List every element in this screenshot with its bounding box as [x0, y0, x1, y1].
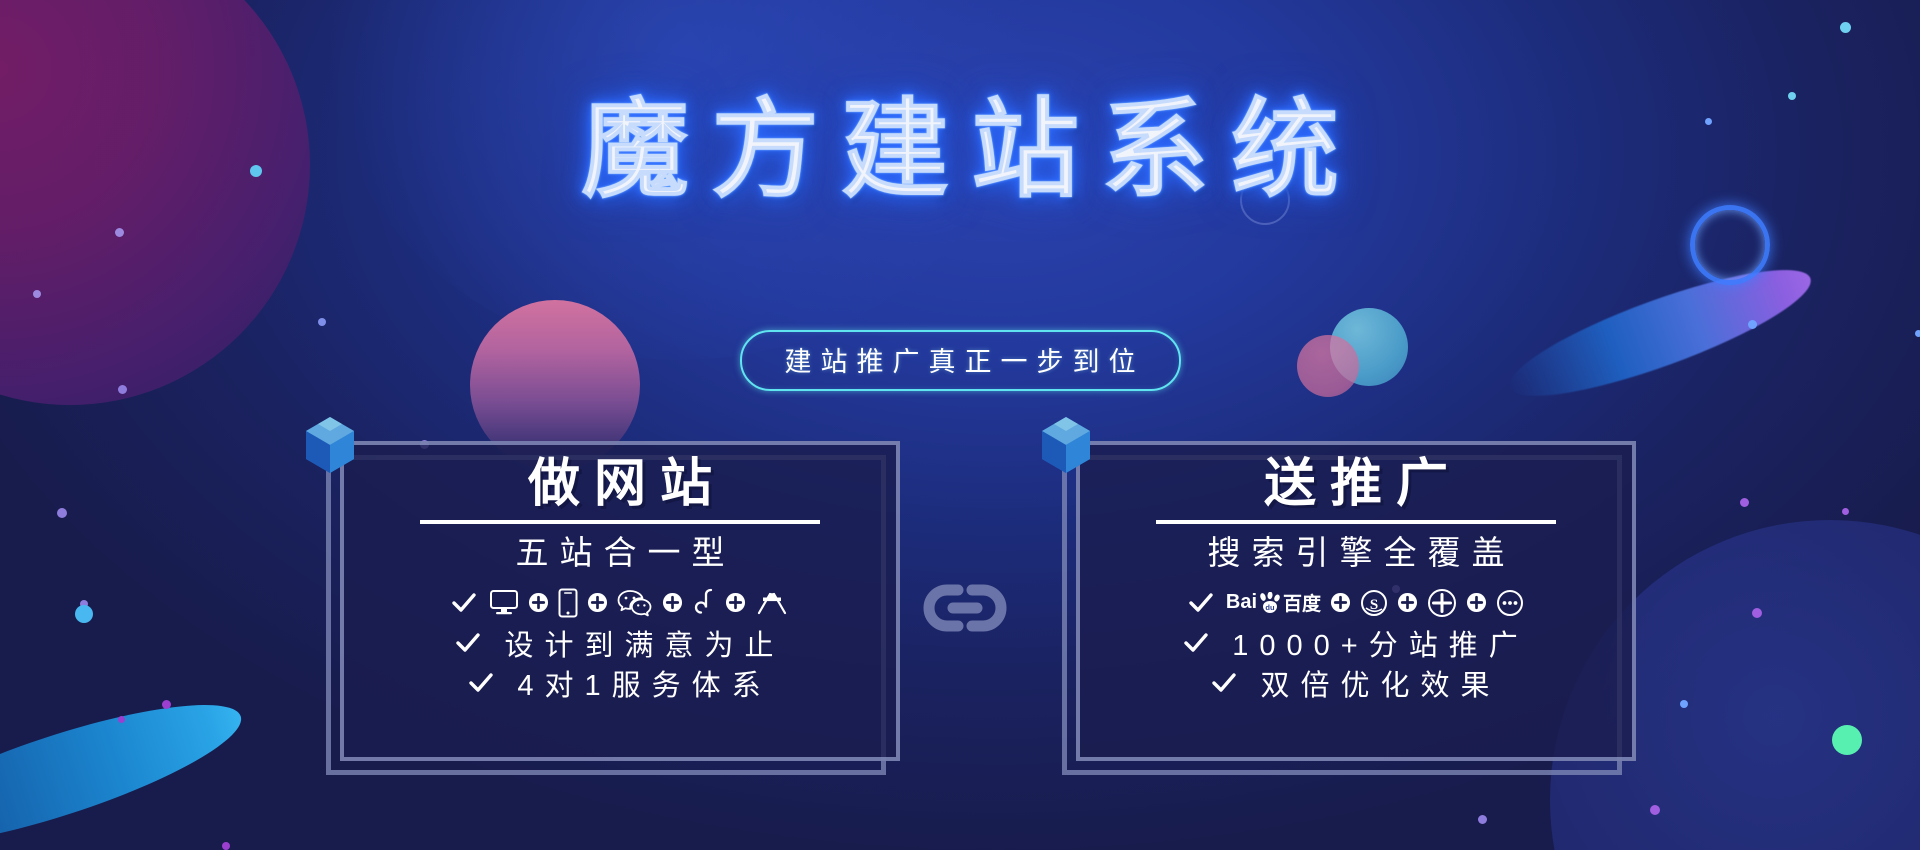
subtitle-pill: 建站推广真正一步到位	[740, 330, 1181, 391]
check-icon	[451, 590, 477, 616]
card-content: 送推广 搜索引擎全覆盖 Bai	[1076, 441, 1636, 761]
feature-row-engines: Bai du 百度	[1076, 583, 1636, 623]
plus-circle-icon	[1397, 592, 1418, 613]
check-icon	[468, 670, 494, 696]
star-dot	[222, 842, 230, 850]
search-engine-logo-row: Bai du 百度	[1226, 588, 1524, 618]
check-icon	[1211, 670, 1237, 696]
check-icon	[1188, 590, 1214, 616]
subtitle-text: 建站推广真正一步到位	[776, 347, 1145, 377]
check-icon	[455, 630, 481, 656]
card-free-promotion[interactable]: 送推广 搜索引擎全覆盖 Bai	[1062, 455, 1622, 775]
page-title: 魔方建站系统	[559, 96, 1361, 204]
promotional-banner: 魔方建站系统 建站推广真正一步到位 做网站 五站合一型	[0, 0, 1920, 850]
feature-row-optimization: 双倍优化效果	[1076, 663, 1636, 703]
star-dot	[1752, 608, 1762, 618]
card-subtitle: 搜索引擎全覆盖	[1197, 533, 1516, 573]
star-dot	[1740, 498, 1749, 507]
star-dot	[162, 700, 171, 709]
star-dot	[1748, 320, 1757, 329]
360-logo-icon	[1427, 588, 1457, 618]
desktop-monitor-icon	[489, 589, 519, 617]
baidu-du-text: du	[1265, 603, 1275, 612]
sogou-logo-icon: S	[1360, 589, 1388, 617]
card-divider	[420, 520, 820, 524]
comet-streak-left	[0, 678, 253, 850]
star-dot	[75, 605, 93, 623]
star-dot	[318, 318, 326, 326]
star-dot	[1840, 22, 1851, 33]
star-dot	[118, 716, 125, 723]
feature-text: 设计到满意为止	[493, 622, 784, 664]
feature-text: 1000+分站推广	[1221, 622, 1528, 664]
card-content: 做网站 五站合一型	[340, 441, 900, 761]
mint-circle	[1832, 725, 1862, 755]
feature-list: Bai du 百度	[1076, 583, 1636, 703]
star-dot	[1478, 815, 1487, 824]
card-divider	[1156, 520, 1556, 524]
chain-link-icon	[920, 578, 1010, 638]
card-title: 送推广	[1250, 455, 1462, 513]
baidu-latin-text: Bai	[1226, 591, 1257, 614]
feature-row-platforms	[340, 583, 900, 623]
star-dot	[1842, 508, 1849, 515]
plus-circle-icon	[725, 592, 746, 613]
subtitle-pill-container: 建站推广真正一步到位	[0, 330, 1920, 391]
plus-circle-icon	[662, 592, 683, 613]
feature-row-service: 4对1服务体系	[340, 663, 900, 703]
star-dot	[1680, 700, 1688, 708]
star-dot	[33, 290, 41, 298]
more-ellipsis-icon	[1496, 589, 1524, 617]
mobile-phone-icon	[558, 588, 578, 618]
wechat-icon	[617, 589, 653, 617]
feature-row-design: 设计到满意为止	[340, 623, 900, 663]
card-subtitle: 五站合一型	[505, 533, 736, 573]
plus-circle-icon	[528, 592, 549, 613]
baidu-logo-icon: Bai du 百度	[1226, 589, 1321, 616]
feature-text: 4对1服务体系	[506, 662, 771, 704]
star-dot	[1650, 805, 1660, 815]
feature-text: 双倍优化效果	[1249, 662, 1500, 704]
plus-circle-icon	[1466, 592, 1487, 613]
feature-list: 设计到满意为止 4对1服务体系	[340, 583, 900, 703]
neon-ring	[1690, 205, 1770, 285]
star-dot	[115, 228, 124, 237]
music-note-icon	[692, 588, 716, 618]
platform-logo-row	[489, 588, 789, 618]
card-build-site[interactable]: 做网站 五站合一型	[326, 455, 886, 775]
baidu-cn-text: 百度	[1283, 589, 1321, 616]
plus-circle-icon	[587, 592, 608, 613]
hexagon-gem-icon	[1038, 415, 1094, 477]
app-store-icon	[755, 589, 789, 617]
baidu-paw-icon: du	[1258, 592, 1282, 614]
main-title-container: 魔方建站系统	[0, 96, 1920, 204]
check-icon	[1183, 630, 1209, 656]
star-dot	[57, 508, 67, 518]
hexagon-gem-icon	[302, 415, 358, 477]
card-title: 做网站	[514, 455, 726, 513]
plus-circle-icon	[1330, 592, 1351, 613]
feature-row-subsites: 1000+分站推广	[1076, 623, 1636, 663]
